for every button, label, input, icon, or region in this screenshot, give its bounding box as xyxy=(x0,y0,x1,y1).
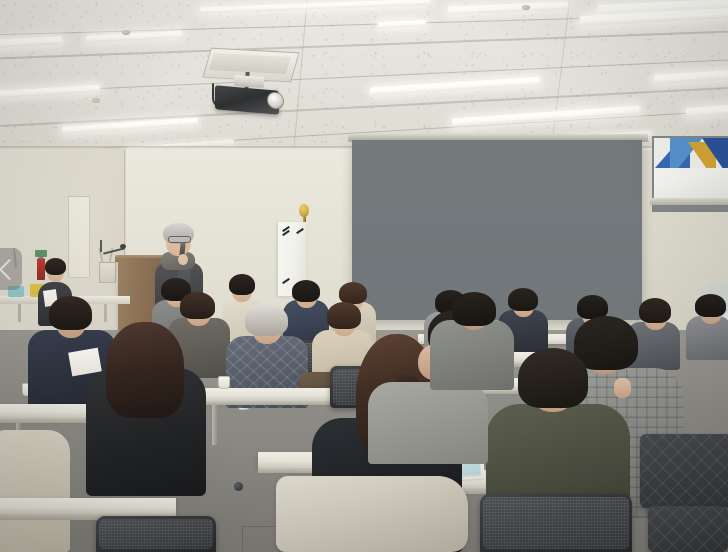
chair-quilted[interactable] xyxy=(648,506,728,552)
flag-finial xyxy=(299,204,309,217)
smoke-detector-icon xyxy=(92,98,100,103)
projector-bracket xyxy=(234,75,264,88)
podium-mic-stand xyxy=(100,240,102,252)
right-banner-graphic xyxy=(654,138,728,198)
chair-front[interactable] xyxy=(480,494,632,552)
podium-front-panel xyxy=(242,526,280,552)
speaker-hand xyxy=(178,254,188,265)
side-table-leg xyxy=(104,304,107,322)
audience-hair xyxy=(518,348,588,408)
projection-screen-frame: 평생 지속되는 성장 스위치 찾기 이남석 (심리변화연구소) xyxy=(352,140,642,320)
audience-hair xyxy=(292,280,320,302)
staff-hair xyxy=(45,258,66,275)
audience-hair-long xyxy=(106,322,184,418)
audience-hair xyxy=(49,296,92,330)
handout-paper xyxy=(68,348,102,377)
audience-hair xyxy=(229,274,255,295)
audience-hair xyxy=(574,316,638,370)
lecture-hall-photo: 평생 지속되는 성장 스위치 찾기 이남석 (심리변화연구소) xyxy=(0,0,728,552)
speaker-glasses-icon xyxy=(168,236,191,243)
fleece-coat-draped xyxy=(276,476,468,552)
wall-control-box xyxy=(99,262,116,283)
smoke-detector-icon xyxy=(122,30,130,35)
audience-body xyxy=(430,320,514,390)
audience-hair xyxy=(695,294,726,317)
audience-hair xyxy=(327,302,361,329)
audience-hair xyxy=(452,292,496,326)
projector-lens-icon xyxy=(267,91,284,109)
audience-hair xyxy=(508,288,538,311)
chair-mesh-back xyxy=(483,497,629,549)
chair-quilted[interactable] xyxy=(640,434,728,508)
ceiling xyxy=(0,0,728,152)
chair-mesh-back xyxy=(99,519,213,549)
wall-shelf xyxy=(650,198,728,205)
desk-front-left xyxy=(0,498,176,514)
podium-mic-head-icon xyxy=(120,244,126,249)
audience-hand xyxy=(614,378,631,398)
side-table-leg xyxy=(18,304,21,322)
audience-hair xyxy=(180,292,215,319)
fire-extinguisher-icon xyxy=(37,258,45,280)
trigram-icon xyxy=(296,228,304,234)
chair-front[interactable] xyxy=(96,516,216,552)
audience-hair xyxy=(339,282,367,304)
chevron-left-icon xyxy=(0,258,20,279)
banner-shape-white xyxy=(654,168,728,198)
draped-garment xyxy=(0,430,70,552)
wall-panel xyxy=(68,196,90,278)
desk-leg xyxy=(212,405,217,445)
trigram-icon xyxy=(282,278,290,284)
chair-caster xyxy=(234,482,243,491)
previous-image-button[interactable] xyxy=(0,248,22,290)
audience-hair-gray xyxy=(245,304,288,336)
audience-body xyxy=(368,382,488,464)
paper-cup xyxy=(218,376,230,389)
smoke-detector-icon xyxy=(522,5,530,10)
audience-hair xyxy=(639,298,671,323)
